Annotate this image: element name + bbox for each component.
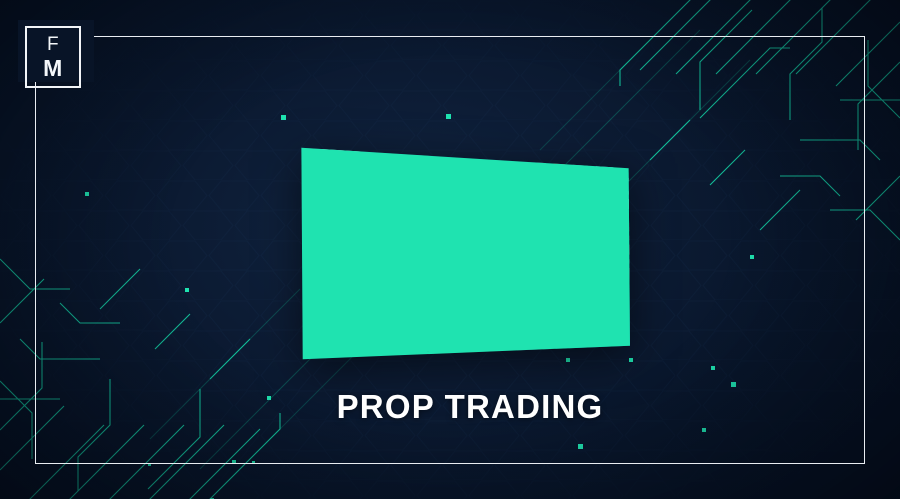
logo-letter-m: M bbox=[43, 57, 63, 80]
order-book-cell bbox=[358, 187, 378, 190]
order-type-chips[interactable] bbox=[579, 233, 632, 240]
order-price-field[interactable] bbox=[580, 219, 632, 231]
order-stop-field[interactable] bbox=[579, 242, 632, 255]
order-info-right bbox=[624, 259, 632, 264]
order-book-cell bbox=[517, 358, 540, 361]
order-book-cell bbox=[542, 352, 566, 357]
order-book-cell bbox=[337, 187, 356, 190]
order-info-left bbox=[578, 256, 622, 263]
order-entry-title bbox=[582, 190, 632, 195]
order-book-cell bbox=[552, 192, 576, 196]
logo-letter-f: F bbox=[47, 35, 59, 54]
order-entry-panel[interactable] bbox=[567, 186, 632, 361]
order-info-row bbox=[578, 256, 632, 264]
order-book-cell bbox=[551, 196, 575, 200]
banner-canvas: F M PROP TRADING bbox=[0, 0, 900, 499]
quote-value-last bbox=[596, 163, 614, 168]
section-label-mid bbox=[461, 175, 481, 178]
quote-value-bid bbox=[509, 162, 526, 166]
terminal-body bbox=[305, 180, 632, 361]
account-label[interactable] bbox=[619, 147, 632, 150]
order-book-cell bbox=[543, 348, 567, 353]
section-label-right bbox=[616, 178, 632, 182]
page-title: PROP TRADING bbox=[0, 388, 900, 426]
order-book-cell bbox=[551, 200, 575, 204]
order-chip-sell[interactable] bbox=[600, 234, 619, 239]
search-input[interactable] bbox=[321, 143, 363, 152]
order-price-label bbox=[610, 213, 632, 217]
trading-terminal-image bbox=[296, 143, 632, 361]
order-submit-button[interactable] bbox=[577, 265, 632, 281]
order-book-cell bbox=[517, 354, 540, 359]
quote-label-last bbox=[573, 163, 589, 166]
quote-extra bbox=[622, 163, 632, 167]
order-book-cell bbox=[526, 200, 549, 204]
order-book-cell bbox=[526, 196, 549, 200]
order-chip-stop[interactable] bbox=[621, 235, 632, 240]
order-book-cell bbox=[316, 186, 335, 189]
quote-label-bid bbox=[488, 162, 502, 165]
section-label-left bbox=[321, 172, 343, 175]
order-book-cell bbox=[542, 356, 566, 361]
terminal-ui bbox=[305, 143, 632, 361]
quote-label-ask bbox=[533, 162, 546, 165]
order-chip-buy[interactable] bbox=[579, 233, 598, 238]
candlestick-chart bbox=[376, 189, 525, 253]
logo[interactable]: F M bbox=[25, 26, 81, 88]
workspace-label[interactable] bbox=[386, 145, 429, 149]
order-quantity-field[interactable] bbox=[581, 198, 632, 210]
order-book-cell bbox=[526, 192, 549, 196]
order-book-cell bbox=[517, 350, 540, 355]
quote-value-ask bbox=[553, 162, 565, 166]
order-book-left[interactable] bbox=[305, 180, 380, 355]
menu-label[interactable] bbox=[367, 145, 382, 149]
order-book-cell bbox=[542, 360, 566, 361]
